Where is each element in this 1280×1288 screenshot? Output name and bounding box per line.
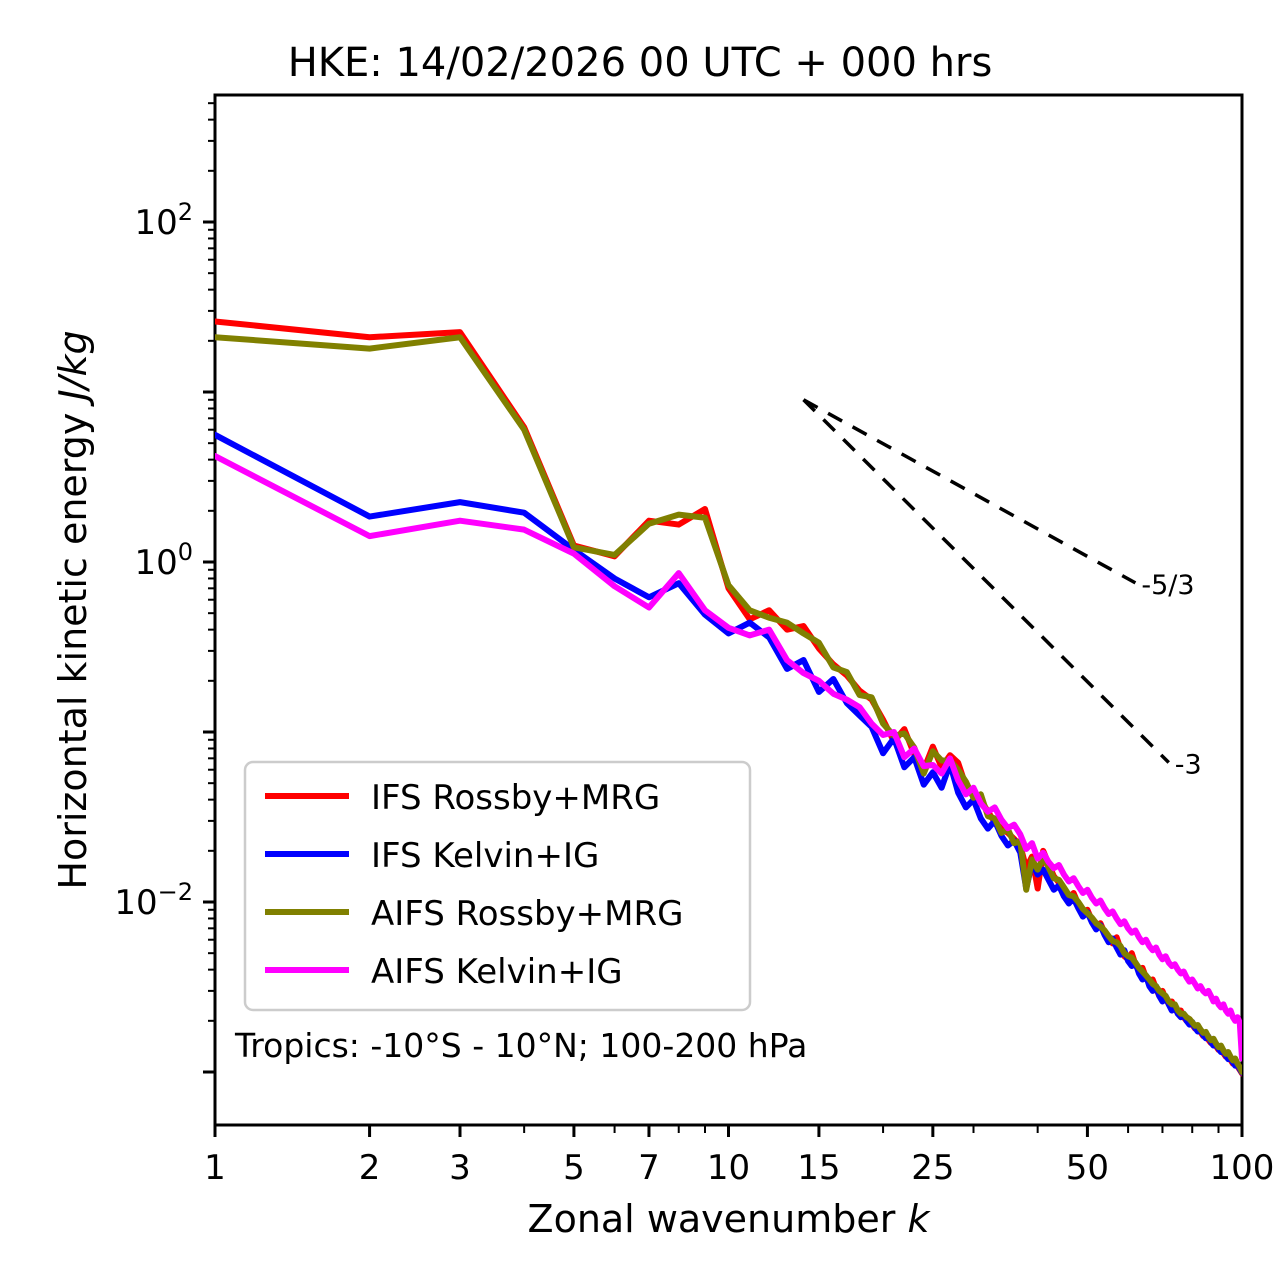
x-tick-label: 2 (359, 1148, 381, 1188)
slope-annotation-layer: -5/3-3 (804, 400, 1202, 781)
y-tick-label: 10−2 (114, 878, 193, 923)
x-tick-label: 100 (1210, 1148, 1275, 1188)
hke-spectrum-chart: 123571015255010010210010−2 -5/3-3 IFS Ro… (0, 0, 1280, 1288)
y-tick-label: 102 (134, 198, 193, 243)
legend-label-1[interactable]: IFS Kelvin+IG (371, 836, 599, 876)
legend-label-2[interactable]: AIFS Rossby+MRG (371, 894, 683, 934)
legend-label-3[interactable]: AIFS Kelvin+IG (371, 952, 623, 992)
x-tick-label: 3 (449, 1148, 471, 1188)
x-tick-label: 25 (911, 1148, 954, 1188)
x-tick-label: 5 (563, 1148, 585, 1188)
figure-root: HKE: 14/02/2026 00 UTC + 000 hrs 1235710… (0, 0, 1280, 1288)
legend-label-0[interactable]: IFS Rossby+MRG (371, 778, 660, 818)
y-tick-label: 100 (134, 538, 193, 583)
region-annotation: Tropics: -10°S - 10°N; 100-200 hPa (234, 1026, 807, 1065)
slope-line-53 (804, 400, 1136, 583)
x-tick-label: 1 (204, 1148, 226, 1188)
x-tick-label: 15 (797, 1148, 840, 1188)
x-axis-label: Zonal wavenumber k (528, 1197, 932, 1241)
x-tick-label: 50 (1066, 1148, 1109, 1188)
slope-label-3: -3 (1175, 749, 1202, 780)
x-tick-label: 7 (638, 1148, 660, 1188)
y-axis-label: Horizontal kinetic energy J/kg (51, 330, 95, 889)
axes-layer: 123571015255010010210010−2 (114, 95, 1274, 1188)
x-tick-label: 10 (707, 1148, 750, 1188)
slope-label-53: -5/3 (1141, 570, 1194, 601)
region-annotation-text: Tropics: -10°S - 10°N; 100-200 hPa (234, 1026, 807, 1065)
legend[interactable]: IFS Rossby+MRGIFS Kelvin+IGAIFS Rossby+M… (245, 762, 750, 1010)
